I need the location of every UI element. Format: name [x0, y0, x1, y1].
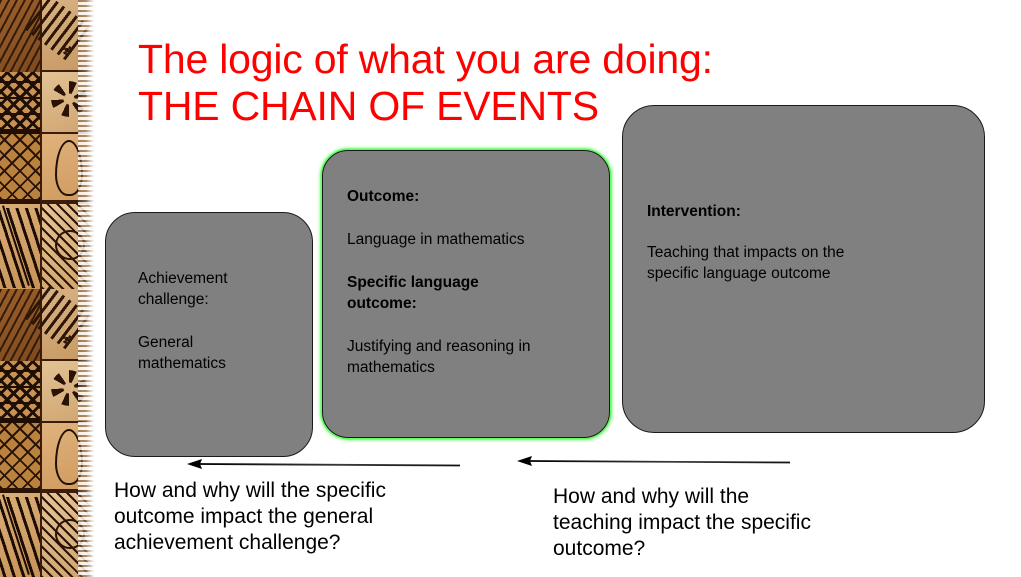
text-line: challenge:: [138, 289, 300, 310]
text-line: mathematics: [138, 353, 300, 374]
text-line-heading: Outcome:: [347, 186, 595, 207]
outcome-box-text: Outcome: Language in mathematics Specifi…: [347, 186, 595, 378]
slide-canvas: The logic of what you are doing: THE CHA…: [0, 0, 1021, 577]
text-line: General: [138, 332, 300, 353]
caption-intervention-to-outcome: How and why will the teaching impact the…: [553, 484, 883, 562]
text-line-heading: Intervention:: [647, 201, 968, 222]
intervention-box[interactable]: Intervention: Teaching that impacts on t…: [622, 105, 985, 433]
text-line: Teaching that impacts on the: [647, 242, 968, 263]
arrow-outcome-to-achievement: [186, 455, 466, 473]
text-line-heading: outcome:: [347, 293, 595, 314]
text-line: Achievement: [138, 268, 300, 289]
text-line-heading: Specific language: [347, 272, 595, 293]
arrow-intervention-to-outcome: [516, 452, 796, 470]
tapa-motif-lattice-icon: [0, 72, 40, 134]
tapa-motif-rosette-icon: [0, 134, 40, 202]
tapa-cloth-border-image: [0, 0, 95, 577]
text-line: specific language outcome: [647, 263, 968, 284]
text-line: Language in mathematics: [347, 229, 595, 250]
text-line: Justifying and reasoning in: [347, 336, 595, 357]
tapa-motif-lattice-icon: [0, 361, 40, 423]
intervention-box-text: Intervention: Teaching that impacts on t…: [647, 201, 968, 284]
text-line: mathematics: [347, 357, 595, 378]
slide-title: The logic of what you are doing: THE CHA…: [138, 36, 713, 130]
outcome-box[interactable]: Outcome: Language in mathematics Specifi…: [322, 150, 610, 438]
caption-outcome-to-achievement: How and why will the specific outcome im…: [114, 478, 484, 556]
achievement-challenge-box[interactable]: Achievement challenge: General mathemati…: [105, 212, 313, 457]
tapa-motif-rosette-icon: [0, 423, 40, 491]
tapa-motif-frond-icon: [0, 202, 40, 289]
achievement-challenge-box-text: Achievement challenge: General mathemati…: [138, 268, 300, 374]
tapa-torn-edge-fade: [86, 0, 95, 577]
tapa-motif-frond-icon: [0, 491, 40, 577]
